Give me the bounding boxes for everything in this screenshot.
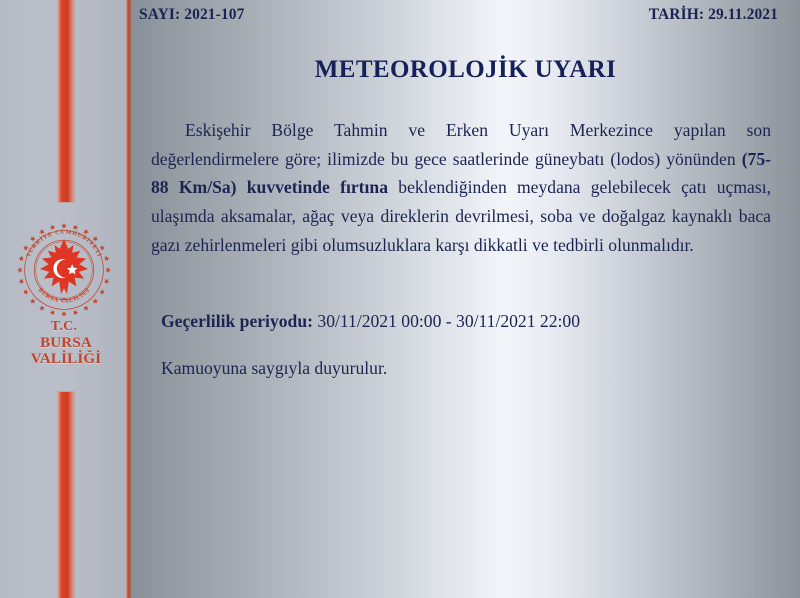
emblem-tc-label: T.C. [0, 320, 128, 335]
bursa-governorship-seal-icon: TÜRKİYE CUMHURİYETİ BURSA VALİLİĞİ [16, 222, 112, 318]
seal-ring-text-bottom: BURSA VALİLİĞİ [37, 287, 92, 305]
document-date: TARİH: 29.11.2021 [649, 6, 778, 24]
validity-period-label: Geçerlilik periyodu: [161, 311, 313, 331]
document-meta-row: SAYI: 2021-107 TARİH: 29.11.2021 [131, 6, 800, 30]
emblem-organization-label: BURSA VALİLİĞİ [4, 335, 128, 368]
decorative-red-bar-top [58, 0, 74, 202]
svg-text:BURSA VALİLİĞİ: BURSA VALİLİĞİ [37, 287, 92, 305]
closing-statement: Kamuoyuna saygıyla duyurulur. [161, 355, 771, 381]
page-title: METEOROLOJİK UYARI [131, 56, 800, 84]
body-text-part-1: Eskişehir Bölge Tahmin ve Erken Uyarı Me… [151, 120, 771, 169]
validity-period-line: Geçerlilik periyodu: 30/11/2021 00:00 - … [161, 308, 771, 334]
main-panel: SAYI: 2021-107 TARİH: 29.11.2021 METEORO… [131, 0, 800, 598]
meteorological-warning-document: TÜRKİYE CUMHURİYETİ BURSA VALİLİĞİ T.C. … [0, 0, 800, 598]
decorative-red-bar-bottom [58, 392, 74, 598]
validity-period-value: 30/11/2021 00:00 - 30/11/2021 22:00 [317, 311, 580, 331]
emblem-block: TÜRKİYE CUMHURİYETİ BURSA VALİLİĞİ T.C. … [0, 222, 128, 368]
document-reference-number: SAYI: 2021-107 [139, 6, 244, 24]
sidebar: TÜRKİYE CUMHURİYETİ BURSA VALİLİĞİ T.C. … [0, 0, 128, 598]
warning-body-text: Eskişehir Bölge Tahmin ve Erken Uyarı Me… [151, 116, 771, 259]
